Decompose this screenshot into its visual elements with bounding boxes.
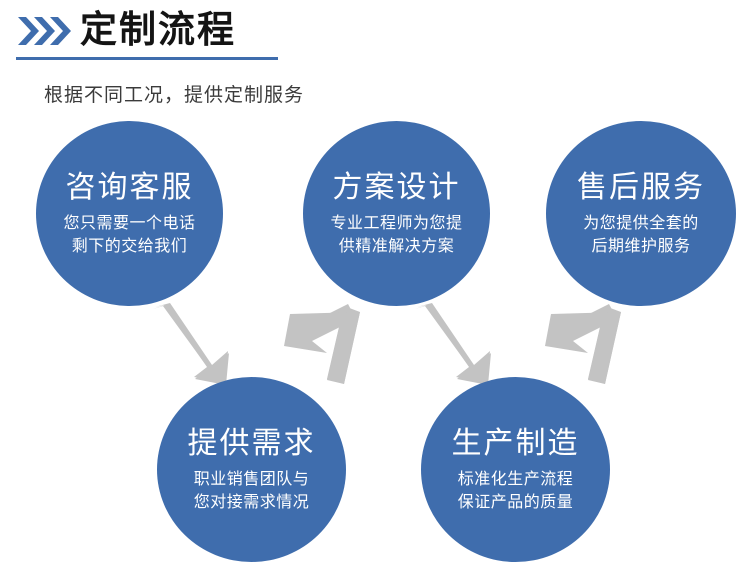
page-header: 定制流程 根据不同工况，提供定制服务 [0,0,750,70]
flow-node-title: 售后服务 [577,170,705,206]
flow-node-desc-line1: 为您提供全套的 [583,212,699,235]
flow-node-desc-line1: 您只需要一个电话 [63,212,195,235]
arrow-down-right-icon [412,303,504,387]
arrow-up-right-icon [282,300,374,386]
flow-node-consult[interactable]: 咨询客服 您只需要一个电话 剩下的交给我们 [36,121,223,306]
flow-node-desc-line1: 标准化生产流程 [458,468,574,491]
flow-node-desc-line2: 剩下的交给我们 [72,235,188,258]
flow-node-desc-line1: 职业销售团队与 [194,468,310,491]
flow-node-production[interactable]: 生产制造 标准化生产流程 保证产品的质量 [421,377,610,562]
custom-process-infographic: 定制流程 根据不同工况，提供定制服务 咨询客服 您只需要一个电话 [0,0,750,576]
arrow-down-right-icon [150,303,242,387]
flow-node-desc-line1: 专业工程师为您提 [330,212,462,235]
flow-node-desc-line2: 后期维护服务 [591,235,690,258]
flow-node-desc-line2: 您对接需求情况 [194,491,310,514]
page-title: 定制流程 [80,6,236,54]
page-subtitle: 根据不同工况，提供定制服务 [44,80,304,107]
flow-node-requirements[interactable]: 提供需求 职业销售团队与 您对接需求情况 [157,377,346,562]
title-underline [16,57,278,60]
flow-node-design[interactable]: 方案设计 专业工程师为您提 供精准解决方案 [303,121,490,306]
flow-node-after-sales[interactable]: 售后服务 为您提供全套的 后期维护服务 [546,121,736,306]
arrow-up-right-icon [543,300,635,386]
flow-node-desc-line2: 保证产品的质量 [458,491,574,514]
flow-node-title: 咨询客服 [66,170,194,206]
flow-node-title: 提供需求 [188,426,316,462]
flow-node-desc-line2: 供精准解决方案 [339,235,455,258]
chevrons-right-icon [16,14,72,48]
flow-node-title: 方案设计 [333,170,461,206]
flow-node-title: 生产制造 [452,426,580,462]
